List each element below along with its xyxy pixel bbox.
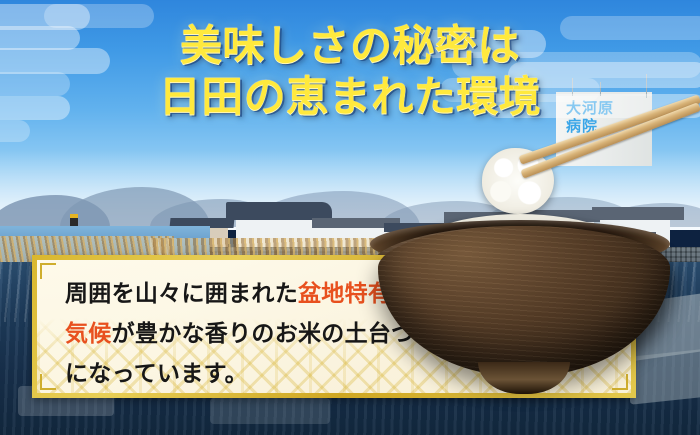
description-line-2: 気候が豊かな香りのお米の土台づくり	[65, 314, 617, 354]
antenna	[572, 78, 573, 96]
antenna	[646, 74, 647, 98]
description-text: 周囲を山々に囲まれた盆地特有の 気候が豊かな香りのお米の土台づくり になっていま…	[65, 274, 617, 393]
rice-clump-in-chopsticks	[482, 148, 554, 214]
description-line-3-plain: になっています。	[65, 360, 248, 387]
description-line-2-plain: が豊かな香りのお米の土台づくり	[112, 320, 462, 347]
hospital-sign-line1: 大河原	[566, 99, 614, 117]
antenna	[600, 82, 601, 96]
description-panel: 周囲を山々に囲まれた盆地特有の 気候が豊かな香りのお米の土台づくり になっていま…	[32, 255, 636, 398]
description-line-2-accent: 気候	[65, 320, 112, 347]
river-rock	[210, 398, 330, 424]
description-line-1-plain: 周囲を山々に囲まれた	[65, 280, 298, 307]
description-line-1-accent: 盆地特有の	[298, 280, 415, 307]
description-panel-inner: 周囲を山々に囲まれた盆地特有の 気候が豊かな香りのお米の土台づくり になっていま…	[37, 260, 631, 393]
banner-canvas: 大河原病院 美味しさの秘密は 日田の恵まれた環境	[0, 0, 700, 435]
corner-notch-bl	[40, 374, 56, 390]
description-line-1: 周囲を山々に囲まれた盆地特有の	[65, 274, 617, 314]
corner-notch-tl	[40, 263, 56, 279]
description-line-3: になっています。	[65, 354, 617, 393]
